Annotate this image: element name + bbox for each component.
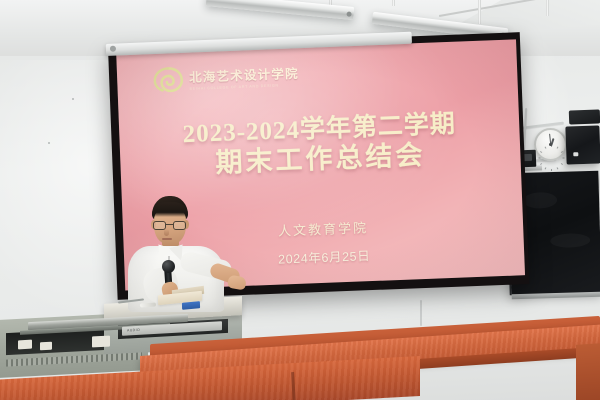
classroom-photo: 北海艺术设计学院 BEIHAI COLLEGE OF ART AND DESIG…	[0, 0, 600, 400]
chalk-smudge	[550, 233, 590, 248]
clock-tick	[538, 157, 540, 158]
wall-blemish	[48, 142, 50, 144]
slide-logo: 北海艺术设计学院 BEIHAI COLLEGE OF ART AND DESIG…	[153, 62, 300, 94]
pendant-rod	[392, 0, 395, 6]
speaker-at-lectern	[118, 196, 238, 356]
clock-tick	[562, 157, 564, 158]
person-hair-front	[152, 202, 188, 217]
wall-scuff	[420, 300, 422, 326]
clock-tick	[544, 166, 546, 169]
pendant-rod	[478, 0, 481, 24]
handheld-microphone-icon	[162, 260, 175, 273]
glasses-bridge	[166, 224, 173, 225]
clock-tick	[556, 146, 558, 149]
rack-item	[18, 340, 32, 350]
clock-tick	[556, 166, 558, 169]
pendant-rod	[546, 0, 549, 16]
rack-item	[92, 336, 110, 348]
wall-speaker-bracket	[569, 109, 600, 124]
wall-speaker-box	[565, 125, 600, 164]
speaker-led-icon	[573, 152, 578, 156]
person-nose	[164, 229, 169, 236]
clock-tick	[539, 162, 542, 164]
chalk-smudge	[523, 192, 557, 209]
glasses-lens-right	[173, 221, 186, 230]
eyeglasses-icon	[152, 221, 189, 230]
clock-tick	[560, 162, 563, 164]
screen-housing-knob	[110, 46, 116, 52]
clock-tick	[551, 168, 552, 170]
clock-center-pin	[549, 143, 552, 146]
clock-tick	[560, 151, 563, 153]
slide-logo-text: 北海艺术设计学院 BEIHAI COLLEGE OF ART AND DESIG…	[189, 63, 299, 91]
wall-blemish	[72, 98, 74, 100]
student-desk-right-leg	[576, 343, 600, 400]
clock-tick	[544, 146, 546, 149]
slide-title: 2023-2024学年第二学期 期末工作总结会	[119, 109, 521, 181]
light-end-cap	[346, 11, 351, 16]
wall-clock	[534, 128, 567, 161]
clock-tick	[539, 151, 542, 153]
spiral-swirl-logo-icon	[153, 66, 184, 93]
rack-item	[40, 342, 52, 351]
